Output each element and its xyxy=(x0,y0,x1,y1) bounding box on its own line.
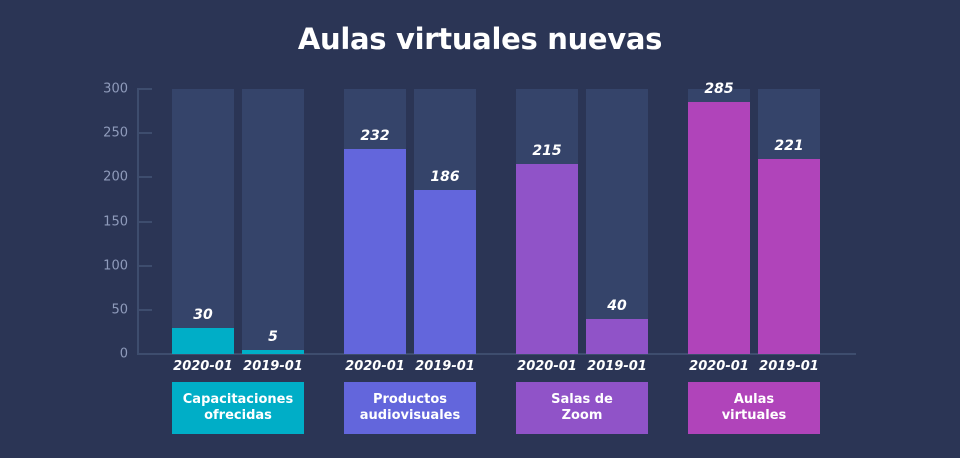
bar[interactable] xyxy=(688,102,750,354)
period-label: 2020-01 xyxy=(344,359,406,374)
bar[interactable] xyxy=(758,159,820,354)
period-label: 2019-01 xyxy=(242,359,304,374)
bar-value-label: 221 xyxy=(744,138,834,154)
bar-track xyxy=(242,89,304,354)
bar-slot[interactable]: 5 xyxy=(242,89,304,354)
category-label-text: Productosaudiovisuales xyxy=(360,392,460,425)
y-axis-tick-label: 150 xyxy=(86,214,128,229)
y-axis-tick-label: 250 xyxy=(86,126,128,141)
bar-slot[interactable]: 186 xyxy=(414,89,476,354)
category-label-text: Capacitacionesofrecidas xyxy=(183,392,293,425)
category-label-line-1: Aulas xyxy=(722,392,787,408)
bar-value-label: 285 xyxy=(674,81,764,97)
bar[interactable] xyxy=(242,350,304,354)
y-axis-tick-label: 100 xyxy=(86,258,128,273)
bar-slot[interactable]: 40 xyxy=(586,89,648,354)
bar-value-label: 30 xyxy=(158,307,248,323)
y-axis-tick xyxy=(138,176,152,178)
y-axis-tick xyxy=(138,221,152,223)
bar[interactable] xyxy=(344,149,406,354)
category-label-text: Aulasvirtuales xyxy=(722,392,787,425)
category-label-line-2: Zoom xyxy=(551,408,613,424)
bar-value-label: 232 xyxy=(330,128,420,144)
category-label-box[interactable]: Aulasvirtuales xyxy=(688,382,820,434)
y-axis-tick xyxy=(138,265,152,267)
bar-group: 305 xyxy=(172,89,304,354)
bar-chart: Aulas virtuales nuevas 05010015020025030… xyxy=(0,0,960,458)
bar-group: 21540 xyxy=(516,89,648,354)
bar[interactable] xyxy=(586,319,648,354)
period-label: 2020-01 xyxy=(516,359,578,374)
category-label-box[interactable]: Salas deZoom xyxy=(516,382,648,434)
bar-slot[interactable]: 232 xyxy=(344,89,406,354)
bar-value-label: 186 xyxy=(400,169,490,185)
category-label-text: Salas deZoom xyxy=(551,392,613,425)
y-axis-tick xyxy=(138,88,152,90)
bar-slot[interactable]: 285 xyxy=(688,89,750,354)
category-label-line-2: ofrecidas xyxy=(183,408,293,424)
bar-slot[interactable]: 221 xyxy=(758,89,820,354)
y-axis-tick xyxy=(138,353,152,355)
category-label-line-1: Productos xyxy=(360,392,460,408)
bar-value-label: 215 xyxy=(502,143,592,159)
bar-group: 232186 xyxy=(344,89,476,354)
category-label-line-2: virtuales xyxy=(722,408,787,424)
y-axis-tick-label: 300 xyxy=(86,82,128,97)
bar-slot[interactable]: 215 xyxy=(516,89,578,354)
y-axis-labels: 050100150200250300 xyxy=(86,0,128,458)
bar[interactable] xyxy=(516,164,578,354)
bar-slot[interactable]: 30 xyxy=(172,89,234,354)
y-axis-tick-label: 0 xyxy=(86,347,128,362)
category-label-box[interactable]: Capacitacionesofrecidas xyxy=(172,382,304,434)
bar-track xyxy=(586,89,648,354)
period-label: 2019-01 xyxy=(586,359,648,374)
category-label-line-2: audiovisuales xyxy=(360,408,460,424)
y-axis-tick xyxy=(138,309,152,311)
y-axis-tick xyxy=(138,132,152,134)
period-label: 2019-01 xyxy=(758,359,820,374)
chart-title: Aulas virtuales nuevas xyxy=(0,22,960,56)
bar-value-label: 5 xyxy=(228,329,318,345)
category-label-line-1: Capacitaciones xyxy=(183,392,293,408)
y-axis-tick-label: 50 xyxy=(86,302,128,317)
y-axis-tick-label: 200 xyxy=(86,170,128,185)
bar[interactable] xyxy=(414,190,476,354)
period-label: 2020-01 xyxy=(172,359,234,374)
period-label: 2019-01 xyxy=(414,359,476,374)
bar-value-label: 40 xyxy=(572,298,662,314)
bar[interactable] xyxy=(172,328,234,355)
period-label: 2020-01 xyxy=(688,359,750,374)
category-label-line-1: Salas de xyxy=(551,392,613,408)
bar-group: 285221 xyxy=(688,89,820,354)
category-label-box[interactable]: Productosaudiovisuales xyxy=(344,382,476,434)
